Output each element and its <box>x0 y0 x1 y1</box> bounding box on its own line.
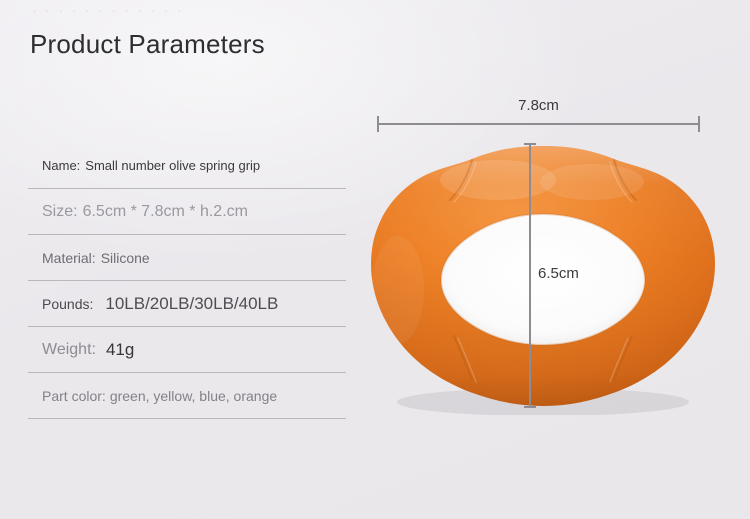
spec-label-weight: Weight: <box>28 341 96 359</box>
spec-row-pounds: Pounds: 10LB/20LB/30LB/40LB <box>28 281 346 327</box>
height-dimension-label: 6.5cm <box>538 265 579 282</box>
spec-row-material: Material: Silicone <box>28 235 346 281</box>
spec-row-size: Size: 6.5cm * 7.8cm * h.2.cm <box>28 189 346 235</box>
spec-label-pounds: Pounds: <box>28 296 93 312</box>
spec-row-weight: Weight: 41g <box>28 327 346 373</box>
width-dimension-cap-left <box>377 116 379 132</box>
spec-value-part-color: green, yellow, blue, orange <box>110 388 277 404</box>
height-dimension-cap-bottom <box>524 406 536 408</box>
spec-label-size: Size: <box>28 203 78 221</box>
page-title: Product Parameters <box>30 27 265 61</box>
spec-value-pounds: 10LB/20LB/30LB/40LB <box>105 294 278 314</box>
width-dimension-label: 7.8cm <box>377 97 700 114</box>
watermark-text: · · · · · · · · · · · · <box>32 2 322 24</box>
width-dimension-cap-right <box>698 116 700 132</box>
spec-value-size: 6.5cm * 7.8cm * h.2.cm <box>83 203 248 221</box>
spec-label-material: Material: <box>28 250 96 266</box>
spec-value-name: Small number olive spring grip <box>85 158 260 173</box>
product-parameters-page: · · · · · · · · · · · · Product Paramete… <box>0 0 750 519</box>
spec-table: Name: Small number olive spring grip Siz… <box>28 143 346 419</box>
spec-row-part-color: Part color: green, yellow, blue, orange <box>28 373 346 419</box>
spec-label-name: Name: <box>28 158 80 173</box>
height-dimension-cap-top <box>524 143 536 145</box>
width-dimension-bar <box>377 123 700 125</box>
spec-value-material: Silicone <box>101 250 150 266</box>
spec-label-part-color: Part color: <box>28 388 106 404</box>
spec-value-weight: 41g <box>106 340 134 360</box>
width-dimension-line: 7.8cm <box>377 123 700 124</box>
spec-row-name: Name: Small number olive spring grip <box>28 143 346 189</box>
product-illustration-area: 7.8cm <box>360 85 735 435</box>
height-dimension-line <box>529 143 531 408</box>
